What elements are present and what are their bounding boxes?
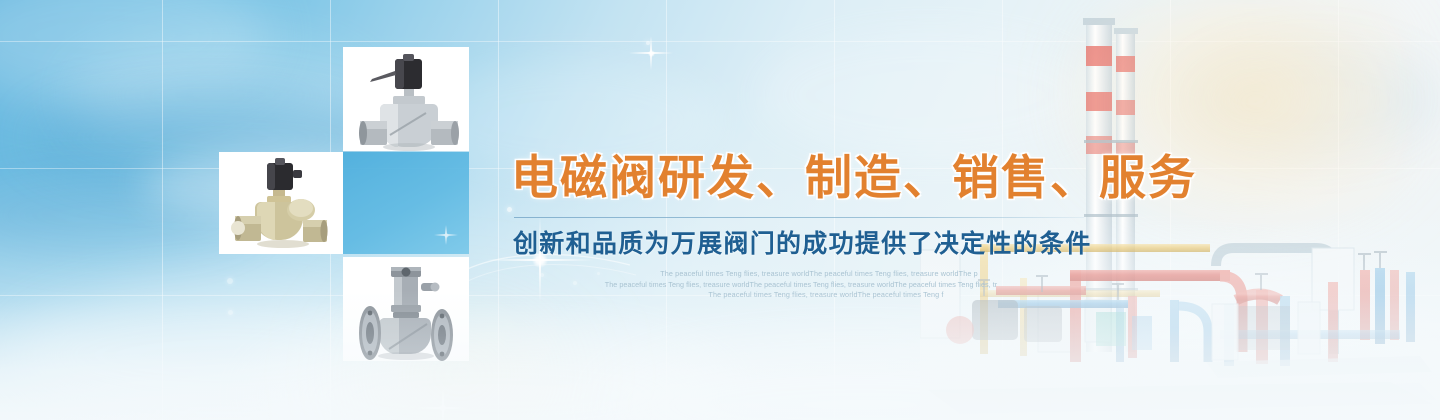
hero-banner: 电磁阀研发、制造、销售、服务 创新和品质为万展阀门的成功提供了决定性的条件 Th… [0,0,1440,420]
fineprint-line-2: The peaceful times Teng flies, treasure … [521,280,1081,291]
product-card-solenoid-valve-flanged[interactable] [343,257,469,361]
process-unit-right [1206,248,1432,378]
page-headline: 电磁阀研发、制造、销售、服务 [511,150,1131,205]
page-subheadline: 创新和品质为万展阀门的成功提供了决定性的条件 [513,228,1131,261]
hero-text-block: 电磁阀研发、制造、销售、服务 创新和品质为万展阀门的成功提供了决定性的条件 Th… [511,150,1131,301]
decorative-fineprint: The peaceful times Teng flies, treasure … [521,269,1081,301]
fineprint-line-1: The peaceful times Teng flies, treasure … [521,269,1081,280]
product-card-solenoid-valve-threaded-black-coil[interactable] [343,47,469,151]
headline-divider [514,217,1084,218]
fineprint-line-3: The peaceful times Teng flies, treasure … [521,290,1081,301]
product-card-solenoid-valve-brass-body[interactable] [219,152,343,254]
accent-tile [341,152,469,254]
